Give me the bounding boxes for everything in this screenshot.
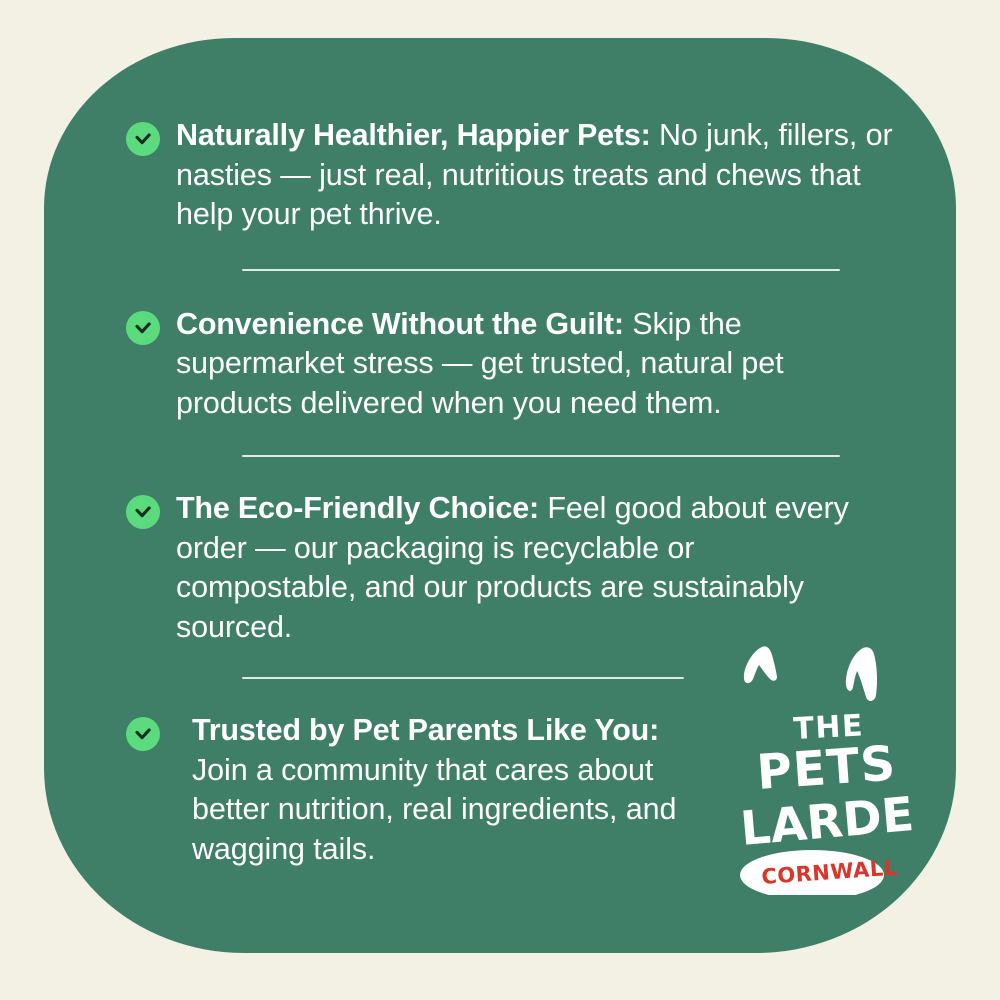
benefit-text-1: Naturally Healthier, Happier Pets: No ju…: [176, 116, 896, 235]
divider-1: [242, 269, 840, 271]
benefit-text-4: Trusted by Pet Parents Like You: Join a …: [192, 711, 692, 869]
benefit-lead-1: Naturally Healthier, Happier Pets:: [176, 118, 651, 152]
benefit-item-1: Naturally Healthier, Happier Pets: No ju…: [126, 116, 896, 235]
divider-3: [242, 677, 684, 679]
benefit-item-2: Convenience Without the Guilt: Skip the …: [126, 305, 896, 424]
benefit-body-4: Join a community that cares about better…: [192, 753, 676, 866]
benefit-text-3: The Eco-Friendly Choice: Feel good about…: [176, 489, 881, 647]
benefit-item-4: Trusted by Pet Parents Like You: Join a …: [126, 711, 896, 869]
check-circle-icon: [126, 305, 162, 345]
benefits-card: Naturally Healthier, Happier Pets: No ju…: [44, 38, 956, 953]
benefit-item-3: The Eco-Friendly Choice: Feel good about…: [126, 489, 896, 647]
check-circle-icon: [126, 116, 162, 156]
check-circle-icon: [126, 489, 162, 529]
benefits-card-content: Naturally Healthier, Happier Pets: No ju…: [44, 38, 956, 953]
benefit-text-2: Convenience Without the Guilt: Skip the …: [176, 305, 896, 424]
benefit-lead-2: Convenience Without the Guilt:: [176, 307, 624, 341]
check-circle-icon: [126, 711, 162, 751]
benefit-lead-3: The Eco-Friendly Choice:: [176, 491, 539, 525]
divider-2: [242, 455, 840, 457]
benefit-lead-4: Trusted by Pet Parents Like You:: [192, 713, 659, 747]
